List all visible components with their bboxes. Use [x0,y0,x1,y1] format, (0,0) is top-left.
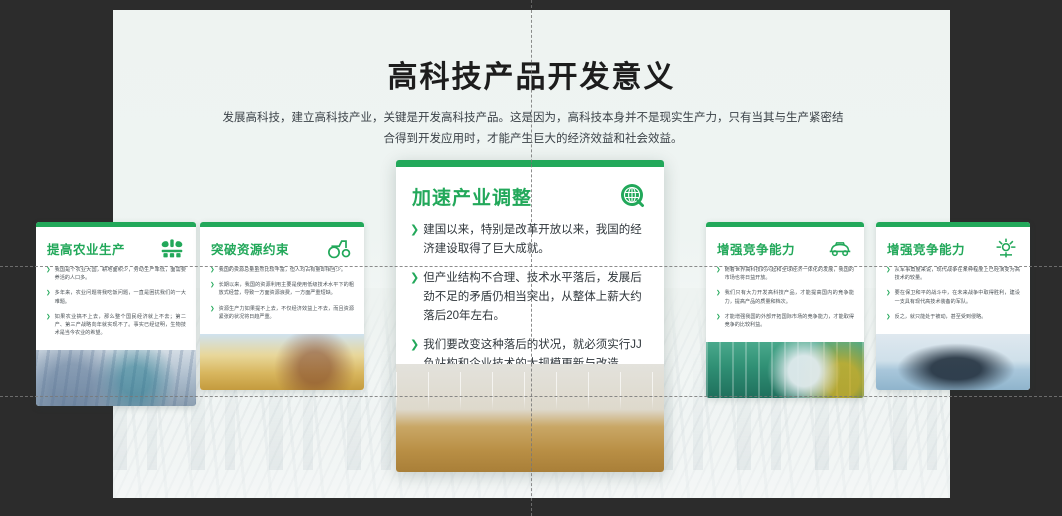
bullet-text: 资源生产力如果提不上去，不仅经济效益上不去，而且资源紧张的状况将日趋严重。 [219,305,354,321]
hero-bullet: ❯ 建国以来，特别是改革开放以来，我国的经济建设取得了巨大成就。 [410,221,650,259]
tractor-icon [327,236,353,260]
card-body: ❯ 从军事角度来说，现代战争在某种程度上已经演变为高技术的较量。 ❯ 要在保卫和… [876,265,1030,334]
card-body: ❯ 我国是个农业大国，耕地面积少，劳动生产率低，面需要养活的人口多。 ❯ 多年来… [36,265,196,350]
bullet-text: 多年来，农业问题将我吃饭问题，一直是困扰我们的一大难题。 [55,289,186,305]
hero-card-accelerate-industrial-restructuring[interactable]: 加速产业调整 ❯ 建国以来，特别是改革开放以来，我国的经济建设取得了巨大成就。 … [396,160,664,472]
card-header: 突破资源约束 [200,227,364,265]
card-bullet: ❯ 如果农业搞不上去，那么整个国民经济就上不去；第二产、第三产战略向年就实现不了… [46,313,186,338]
card-bullet: ❯ 长期以来，我国的资源利用主要是使用低级技术水平下的粗放式经营，导致一方面资源… [210,281,354,297]
card-header: 增强竞争能力 [706,227,864,265]
card-title: 提高农业生产 [47,239,125,258]
page-subtitle: 发展高科技，建立高科技产业，关键是开发高科技产品。这是因为，高科技本身并不是现实… [218,108,848,150]
bullet-text: 如果农业搞不上去，那么整个国民经济就上不去；第二产、第三产战略向年就实现不了。事… [55,313,186,338]
bullet-arrow-icon: ❯ [886,313,891,321]
card-bullet: ❯ 多年来，农业问题将我吃饭问题，一直是困扰我们的一大难题。 [46,289,186,305]
bullet-arrow-icon: ❯ [210,281,215,297]
card-bullet: ❯ 资源生产力如果提不上去，不仅经济效益上不去，而且资源紧张的状况将日趋严重。 [210,305,354,321]
hero-photo-wind-farm [396,364,664,472]
card-header: 提高农业生产 [36,227,196,265]
bullet-text: 从军事角度来说，现代战争在某种程度上已经演变为高技术的较量。 [895,266,1020,282]
bullet-text: 我国是个农业大国，耕地面积少，劳动生产率低，面需要养活的人口多。 [55,266,186,282]
bullet-arrow-icon: ❯ [716,289,721,305]
card-bullet: ❯ 随着世界高科技的兴起和全球经济一体化的发展，我国的市场也将日益开放。 [716,266,854,282]
crops-icon [159,236,185,260]
bullet-text: 反之，就只能处于被动，甚至受到侵略。 [895,313,987,321]
bullet-arrow-icon: ❯ [210,266,215,274]
hero-bullet: ❯ 但产业结构不合理、技术水平落后，发展后劲不足的矛盾仍相当突出，从整体上薪大约… [410,269,650,326]
card-bullet: ❯ 反之，就只能处于被动，甚至受到侵略。 [886,313,1020,321]
hero-title: 加速产业调整 [412,183,532,210]
bullet-arrow-icon: ❯ [46,313,51,338]
card-bullet: ❯ 我国的资源总量虽然比较丰富，但人均占有量却相当少。 [210,266,354,274]
hero-header: 加速产业调整 [396,167,664,217]
bullet-arrow-icon: ❯ [46,266,51,282]
card-title: 突破资源约束 [211,239,289,258]
bullet-arrow-icon: ❯ [410,269,419,326]
card-photo-naval-ship [876,334,1030,390]
bullet-text: 长期以来，我国的资源利用主要是使用低级技术水平下的粗放式经营，导致一方面资源浪费… [219,281,354,297]
card-bullet: ❯ 从军事角度来说，现代战争在某种程度上已经演变为高技术的较量。 [886,266,1020,282]
globe-icon [618,181,648,211]
bullet-arrow-icon: ❯ [716,266,721,282]
card-bullet: ❯ 要在保卫和平的战斗中，在未来战争中取得胜利，建设一支具有现代高技术装备的军队… [886,289,1020,305]
card-title: 增强竞争能力 [717,239,795,258]
card-header: 增强竞争能力 [876,227,1030,265]
bullet-text: 建国以来，特别是改革开放以来，我国的经济建设取得了巨大成就。 [423,221,650,259]
card-bullet: ❯ 我国是个农业大国，耕地面积少，劳动生产率低，面需要养活的人口多。 [46,266,186,282]
bullet-text: 才能增强我国的外部开拓国际市场的竞争能力，才能取得竞争的比较利益。 [725,313,854,329]
bullet-arrow-icon: ❯ [410,221,419,259]
bullet-text: 随着世界高科技的兴起和全球经济一体化的发展，我国的市场也将日益开放。 [725,266,854,282]
radar-icon [993,236,1019,260]
info-card-resource-constraint[interactable]: 突破资源约束 ❯ 我国的资源总量虽然比较丰富，但人均占有量却相当少。 ❯ 长期以… [200,222,364,390]
bullet-arrow-icon: ❯ [46,289,51,305]
bullet-arrow-icon: ❯ [886,289,891,305]
bullet-text: 要在保卫和平的战斗中，在未来战争中取得胜利，建设一支具有现代高技术装备的军队。 [895,289,1020,305]
info-card-improve-agriculture[interactable]: 提高农业生产 ❯ 我国是个农业大国，耕地面积少，劳动生产率低，面需要养活的人口多… [36,222,196,406]
car-icon [827,236,853,260]
card-body: ❯ 我国的资源总量虽然比较丰富，但人均占有量却相当少。 ❯ 长期以来，我国的资源… [200,265,364,334]
bullet-arrow-icon: ❯ [210,305,215,321]
card-body: ❯ 随着世界高科技的兴起和全球经济一体化的发展，我国的市场也将日益开放。 ❯ 我… [706,265,864,342]
card-title: 增强竞争能力 [887,239,965,258]
info-card-competitiveness-military[interactable]: 增强竞争能力 ❯ 从军事角度来说，现代战争在某种程度上已经演变为高技术的较量。 … [876,222,1030,390]
page-title: 高科技产品开发意义 [113,52,950,96]
card-photo-wheat-harvester [200,334,364,390]
info-card-competitiveness-economic[interactable]: 增强竞争能力 ❯ 随着世界高科技的兴起和全球经济一体化的发展，我国的市场也将日益… [706,222,864,398]
bullet-arrow-icon: ❯ [716,313,721,329]
bullet-text: 我们只有大力开发高科技产品，才能提高国内的竞争能力，提高产品的质量和档次。 [725,289,854,305]
card-photo-circuit-board [706,342,864,398]
card-photo-industry-lab [36,350,196,406]
bullet-text: 我国的资源总量虽然比较丰富，但人均占有量却相当少。 [219,266,346,274]
hero-accent-bar [396,160,664,167]
bullet-arrow-icon: ❯ [886,266,891,282]
bullet-text: 但产业结构不合理、技术水平落后，发展后劲不足的矛盾仍相当突出，从整体上薪大约落后… [423,269,650,326]
card-bullet: ❯ 才能增强我国的外部开拓国际市场的竞争能力，才能取得竞争的比较利益。 [716,313,854,329]
card-bullet: ❯ 我们只有大力开发高科技产品，才能提高国内的竞争能力，提高产品的质量和档次。 [716,289,854,305]
